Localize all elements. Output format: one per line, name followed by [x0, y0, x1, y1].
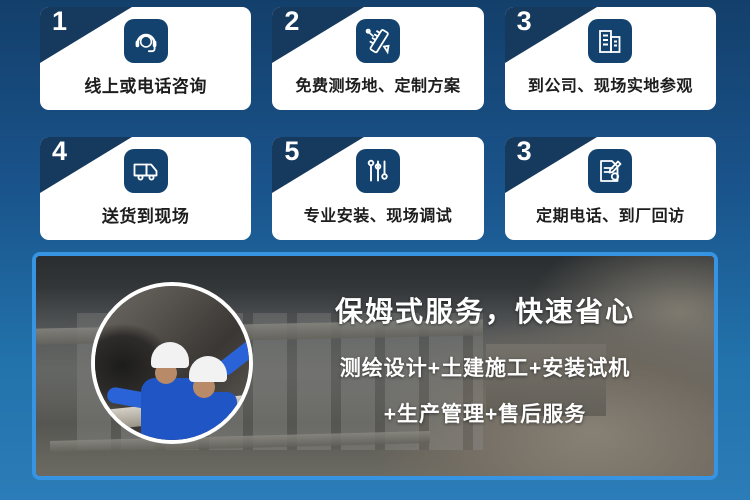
card-label: 线上或电话咨询	[84, 72, 207, 97]
sliders-icon	[356, 149, 400, 193]
card-label: 送货到现场	[102, 202, 190, 227]
card-label: 定期电话、到厂回访	[536, 202, 685, 226]
card-label: 免费测场地、定制方案	[295, 72, 460, 96]
banner-subtitle-line-2: +生产管理+售后服务	[274, 398, 696, 428]
card-label: 专业安装、现场调试	[304, 202, 453, 226]
card-number: 5	[284, 138, 299, 165]
card-number: 3	[517, 8, 532, 35]
card-number: 3	[517, 138, 532, 165]
card-label: 到公司、现场实地参观	[528, 72, 693, 96]
banner-subtitle-line-1: 测绘设计+土建施工+安装试机	[274, 352, 696, 382]
service-card-1[interactable]: 1 线上或电话咨询	[40, 7, 251, 110]
service-card-6[interactable]: 3 定期电话、到厂回访	[505, 137, 716, 240]
ruler-pencil-icon	[356, 19, 400, 63]
banner-title: 保姆式服务，快速省心	[274, 290, 696, 330]
building-icon	[588, 19, 632, 63]
workers-photo-avatar	[91, 282, 253, 444]
service-card-2[interactable]: 2 免费测场地、定制方案	[272, 7, 483, 110]
delivery-truck-icon	[124, 149, 168, 193]
card-number: 1	[52, 8, 67, 35]
service-card-5[interactable]: 5 专业安装、现场调试	[272, 137, 483, 240]
service-card-4[interactable]: 4 送货到现场	[40, 137, 251, 240]
card-number: 4	[52, 138, 67, 165]
service-promo-banner[interactable]: 保姆式服务，快速省心 测绘设计+土建施工+安装试机 +生产管理+售后服务	[32, 252, 718, 480]
headset-icon	[124, 19, 168, 63]
service-steps-grid: 1 线上或电话咨询 2	[40, 7, 716, 240]
banner-text-block: 保姆式服务，快速省心 测绘设计+土建施工+安装试机 +生产管理+售后服务	[274, 290, 696, 428]
service-card-3[interactable]: 3 到公司、现场实地参观	[505, 7, 716, 110]
card-number: 2	[284, 8, 299, 35]
document-edit-icon	[588, 149, 632, 193]
